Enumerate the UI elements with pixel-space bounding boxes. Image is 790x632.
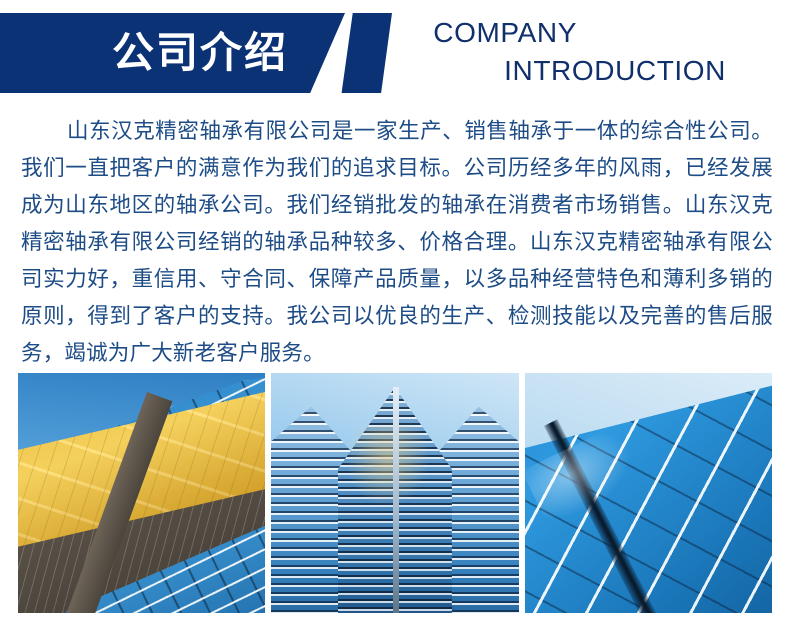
- page-header: 公司介绍 COMPANY INTRODUCTION: [0, 0, 790, 106]
- page-title-english-line2: INTRODUCTION: [306, 52, 726, 90]
- gallery-image-gold-facade-building: [18, 373, 265, 613]
- page-title-english: COMPANY INTRODUCTION: [306, 14, 726, 90]
- page-title-english-line1: COMPANY: [306, 14, 726, 52]
- building-image-gallery: [18, 373, 772, 613]
- warm-reflection-highlight: [345, 426, 429, 508]
- gallery-image-symmetric-glass-tower: [271, 373, 518, 613]
- gallery-image-blue-glass-curtain-wall: [525, 373, 772, 613]
- page-title-chinese: 公司介绍: [112, 19, 332, 87]
- company-introduction-paragraph: 山东汉克精密轴承有限公司是一家生产、销售轴承于一体的综合性公司。我们一直把客户的…: [21, 113, 773, 372]
- center-mullion: [393, 387, 399, 613]
